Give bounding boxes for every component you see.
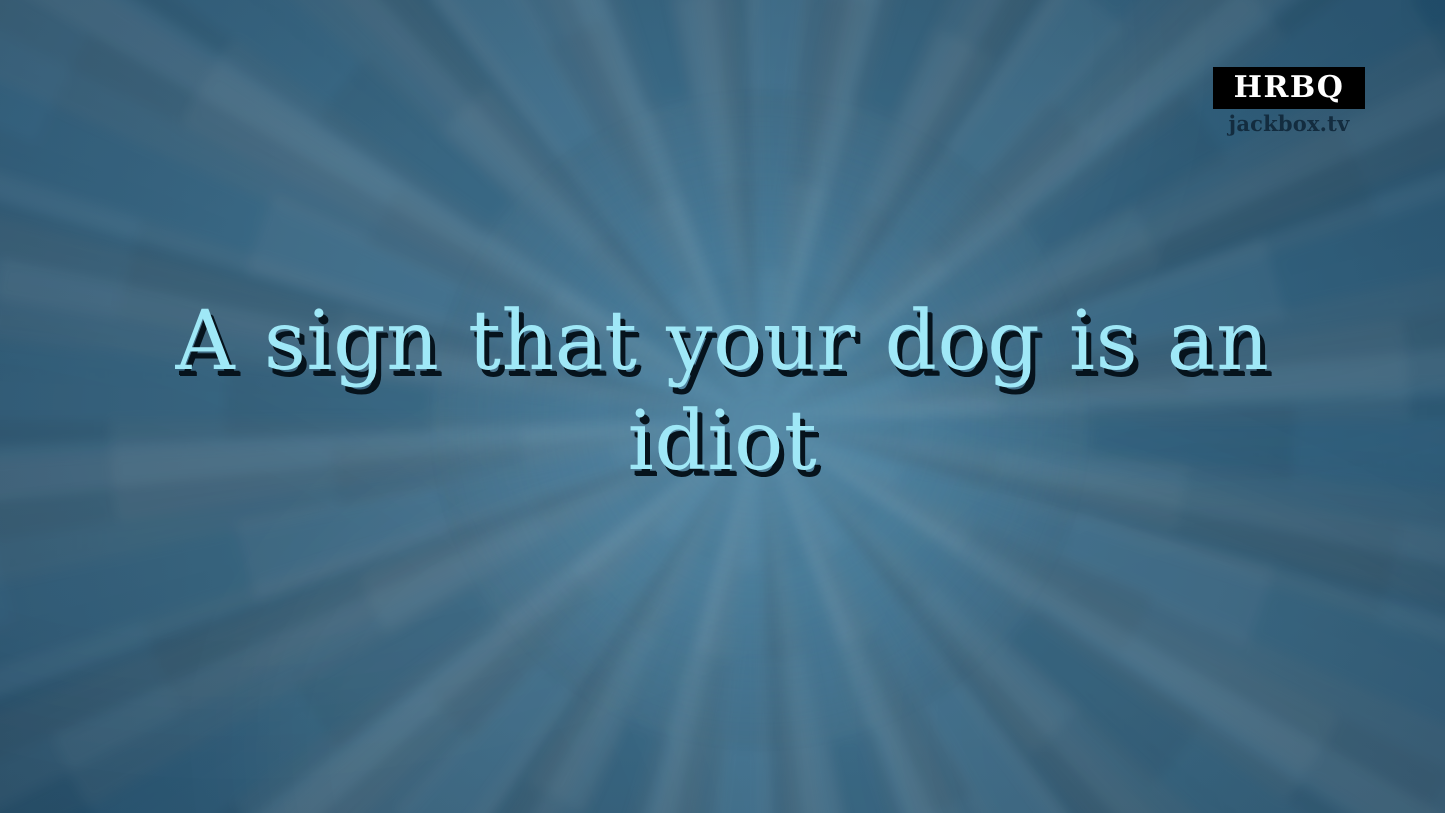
game-screen: HRBQ jackbox.tv A sign that your dog is … — [0, 0, 1445, 813]
room-code-text: HRBQ — [1223, 67, 1355, 109]
jackbox-url-text: jackbox.tv — [1213, 111, 1365, 137]
room-code-box: HRBQ — [1213, 67, 1365, 109]
prompt-container: A sign that your dog is an idiot — [0, 292, 1445, 492]
room-code-badge: HRBQ jackbox.tv — [1213, 67, 1365, 137]
prompt-text: A sign that your dog is an idiot — [86, 292, 1359, 492]
